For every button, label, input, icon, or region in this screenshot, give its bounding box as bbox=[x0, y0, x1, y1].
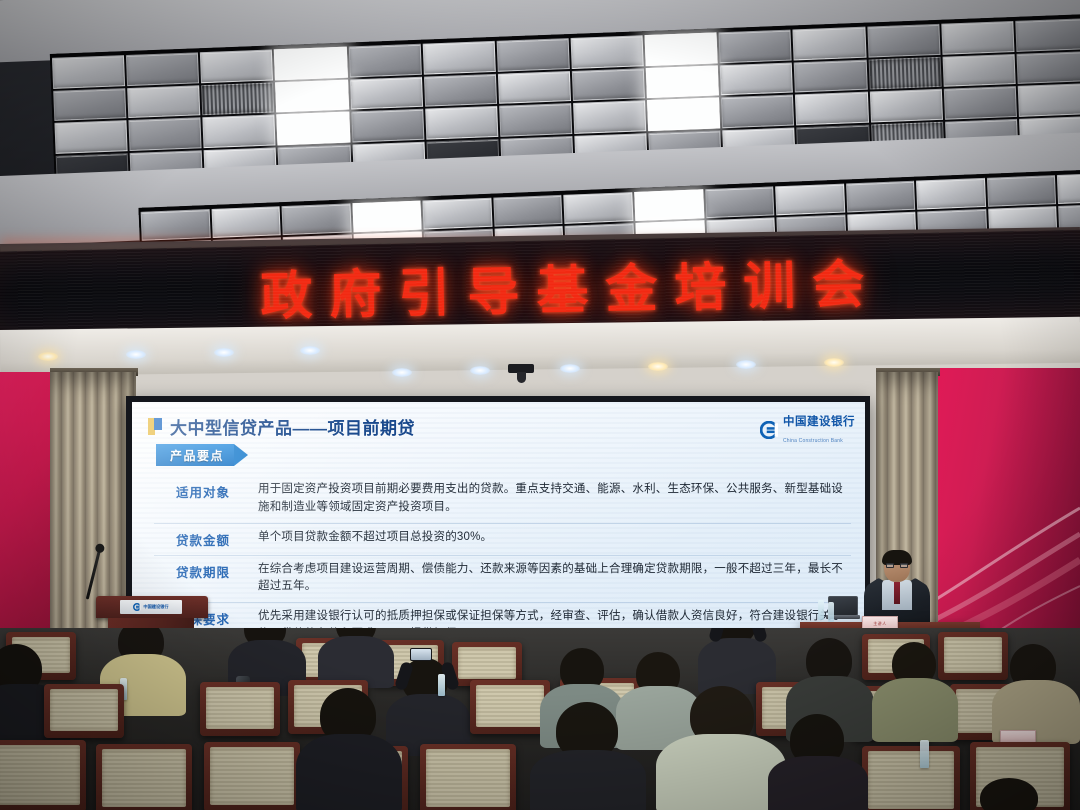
row-value: 用于固定资产投资项目前期必要费用支出的贷款。重点支持交通、能源、水利、生态环保、… bbox=[258, 481, 851, 517]
row-label: 适用对象 bbox=[154, 481, 258, 501]
smartphone bbox=[410, 648, 432, 661]
table-row: 贷款金额 单个项目贷款金额不超过项目总投资的30%。 bbox=[154, 524, 851, 556]
chair bbox=[44, 684, 124, 738]
downlight-icon bbox=[214, 348, 234, 357]
ceiling bbox=[0, 0, 1080, 268]
lectern-plaque-cn: 中国建设银行 bbox=[143, 604, 168, 609]
ccb-logo: 中国建设银行 China Construction Bank bbox=[760, 413, 855, 447]
section-tag-label: 产品要点 bbox=[170, 447, 224, 464]
audience-seating bbox=[0, 628, 1080, 810]
row-value: 单个项目贷款金额不超过项目总投资的30%。 bbox=[258, 529, 851, 547]
ccb-name-en: China Construction Bank bbox=[783, 438, 843, 444]
ccb-name-cn: 中国建设银行 bbox=[783, 416, 855, 428]
section-tag-arrow-icon bbox=[234, 444, 248, 466]
presentation-slide: 大中型信贷产品——项目前期贷 中国建设银行 China Construction… bbox=[132, 402, 865, 658]
downlight-icon bbox=[648, 362, 668, 371]
row-label: 贷款期限 bbox=[154, 561, 258, 581]
audience-person bbox=[980, 778, 1038, 810]
audience-person bbox=[768, 756, 868, 810]
downlight-icon bbox=[736, 360, 756, 369]
banner-title: 政府引导基金培训会 bbox=[210, 241, 882, 329]
chair bbox=[96, 744, 192, 810]
slide-title: 大中型信贷产品——项目前期贷 bbox=[170, 414, 415, 439]
table-row: 适用对象 用于固定资产投资项目前期必要费用支出的贷款。重点支持交通、能源、水利、… bbox=[154, 476, 851, 524]
eyeglasses-icon bbox=[886, 563, 908, 568]
conference-room-photo: 政府引导基金培训会 大中型信贷产品——项目前期贷 bbox=[0, 0, 1080, 810]
row-value: 在综合考虑项目建设运营周期、偿债能力、还款来源等因素的基础上合理确定贷款期限，一… bbox=[258, 561, 851, 597]
downlight-icon bbox=[392, 368, 412, 377]
projection-screen: 大中型信贷产品——项目前期贷 中国建设银行 China Construction… bbox=[126, 396, 870, 662]
section-tag: 产品要点 bbox=[156, 444, 248, 466]
slide-header: 大中型信贷产品——项目前期贷 bbox=[148, 412, 853, 440]
audience-person bbox=[530, 750, 646, 810]
downlight-icon bbox=[38, 352, 58, 361]
ccb-logo-icon bbox=[760, 421, 778, 439]
chair bbox=[204, 742, 300, 810]
lectern-plaque: 中国建设银行 bbox=[120, 600, 182, 614]
water-bottle bbox=[920, 740, 929, 768]
chair bbox=[420, 744, 516, 810]
title-bullet-icon bbox=[148, 418, 161, 435]
downlight-icon bbox=[560, 364, 580, 373]
audience-person bbox=[296, 734, 402, 810]
table-row: 贷款期限 在综合考虑项目建设运营周期、偿债能力、还款来源等因素的基础上合理确定贷… bbox=[154, 556, 851, 604]
downlight-icon bbox=[300, 346, 320, 355]
water-bottle bbox=[438, 674, 445, 696]
downlight-icon bbox=[126, 350, 146, 359]
downlight-icon bbox=[824, 358, 844, 367]
chair bbox=[200, 682, 280, 736]
audience-person bbox=[872, 678, 958, 742]
chair bbox=[470, 680, 550, 734]
ccb-logo-icon bbox=[133, 603, 141, 611]
row-label: 贷款金额 bbox=[154, 529, 258, 549]
ceiling-camera-icon bbox=[517, 372, 526, 383]
water-bottle bbox=[828, 602, 834, 622]
chair bbox=[938, 632, 1008, 680]
downlight-icon bbox=[470, 366, 490, 375]
audience-person bbox=[656, 734, 786, 810]
chair bbox=[0, 740, 86, 810]
water-bottle bbox=[818, 600, 824, 620]
product-spec-table: 适用对象 用于固定资产投资项目前期必要费用支出的贷款。重点支持交通、能源、水利、… bbox=[154, 476, 851, 650]
chair bbox=[862, 746, 960, 810]
